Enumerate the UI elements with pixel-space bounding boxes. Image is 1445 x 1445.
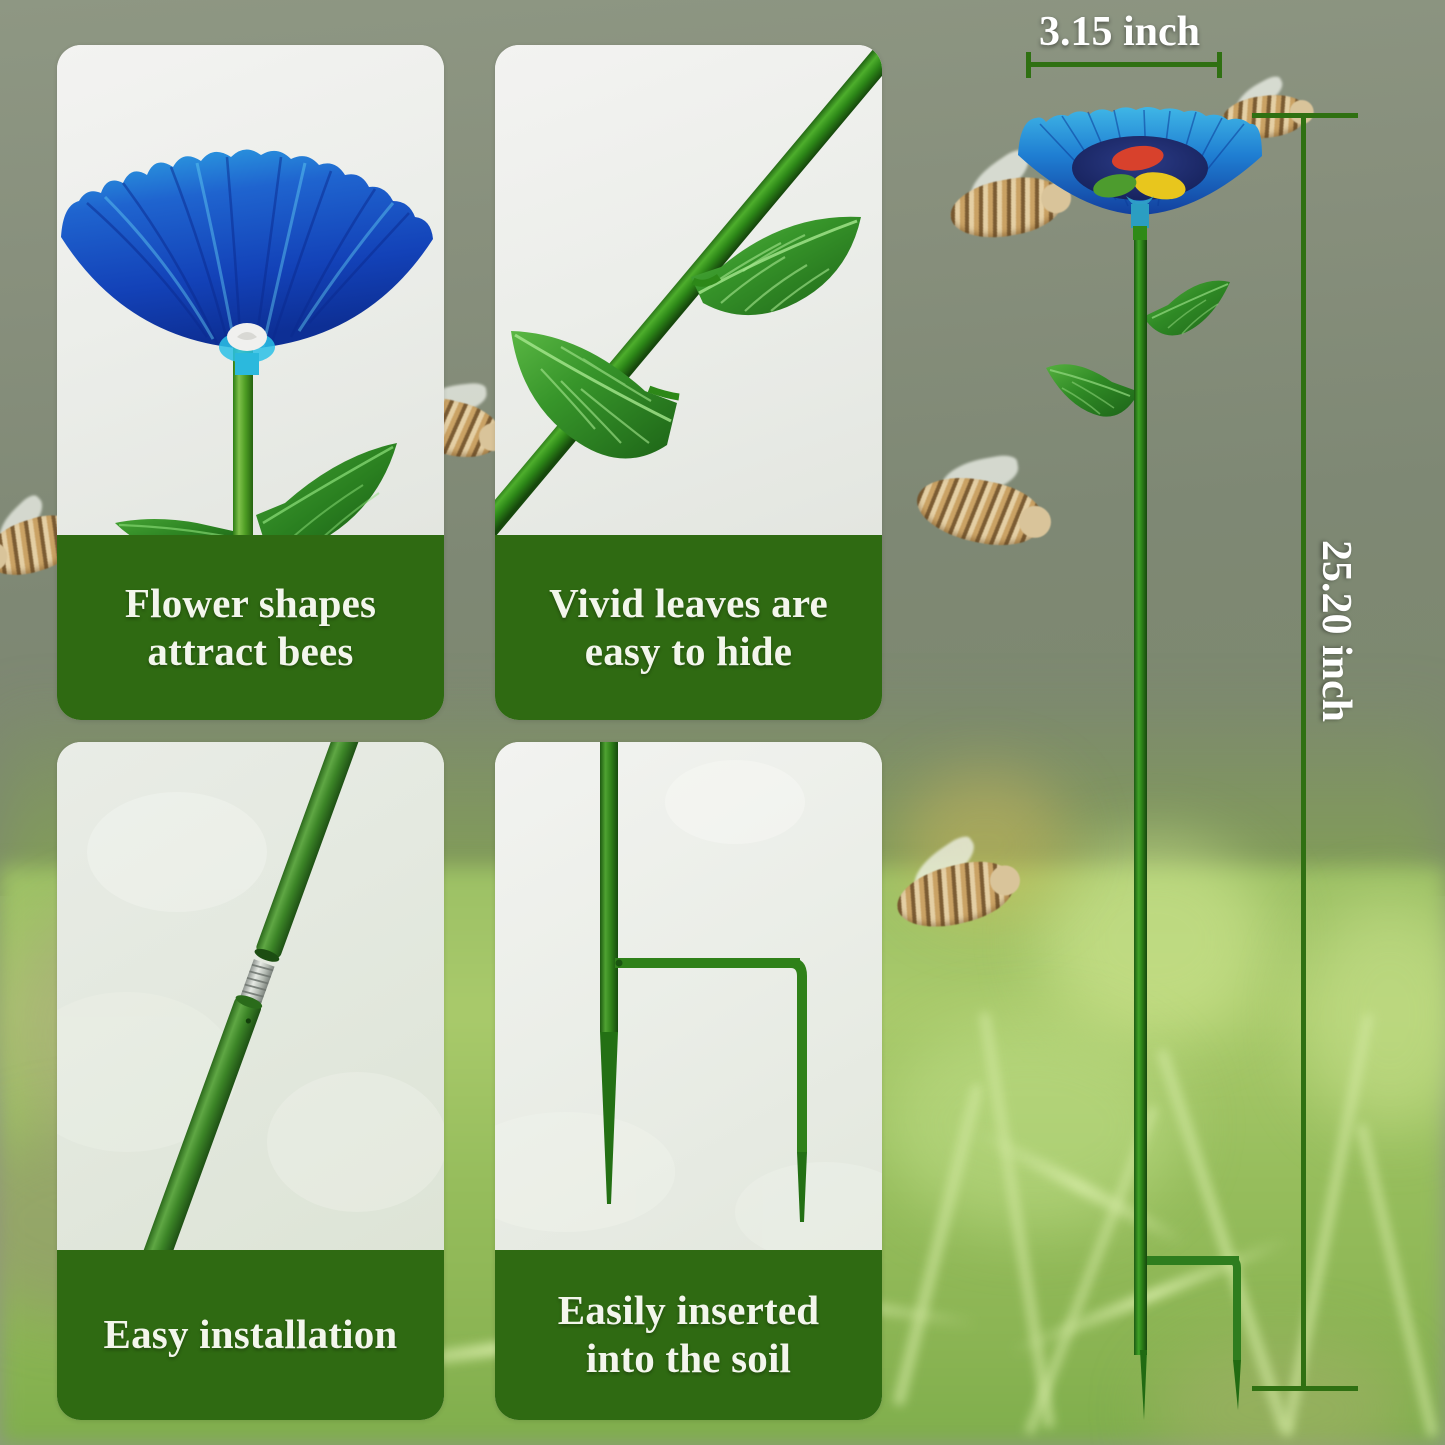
height-dimension-label: 25.20 inch (1312, 540, 1360, 722)
ground-stake-art (495, 742, 882, 1250)
feature-caption-text: Vivid leaves are easy to hide (549, 580, 828, 676)
caption-line: into the soil (586, 1335, 791, 1381)
leaves-closeup-art (495, 45, 882, 535)
hero-flower-head (1018, 107, 1262, 240)
feature-caption-easy-installation: Easy installation (57, 1250, 444, 1420)
caption-line: Flower shapes (125, 580, 376, 626)
leaf-left (115, 519, 233, 535)
feature-image-flower-shapes (57, 45, 444, 535)
height-measure-cap-top (1252, 113, 1358, 118)
caption-line: attract bees (147, 628, 353, 674)
caption-line: Vivid leaves are (549, 580, 828, 626)
product-infographic: 3.15 inch 25.20 inch (0, 0, 1445, 1445)
height-measure-cap-bottom (1252, 1386, 1358, 1391)
hero-product-svg (900, 60, 1320, 1420)
flower-closeup-art (57, 45, 444, 535)
width-dimension-label: 3.15 inch (1039, 8, 1200, 56)
feature-image-easily-inserted (495, 742, 882, 1250)
feature-caption-easily-inserted: Easily inserted into the soil (495, 1250, 882, 1420)
hero-leaf-lower-left (1046, 364, 1134, 416)
width-measure-bar (1026, 62, 1222, 67)
feature-caption-text: Easily inserted into the soil (558, 1287, 820, 1383)
feature-caption-text: Flower shapes attract bees (125, 580, 376, 676)
leaf-lower-left (511, 331, 679, 459)
feature-card-flower-shapes[interactable]: Flower shapes attract bees (57, 45, 444, 720)
feature-card-vivid-leaves[interactable]: Vivid leaves are easy to hide (495, 45, 882, 720)
hero-ground-stake (1140, 1256, 1241, 1420)
feature-caption-text: Easy installation (104, 1311, 398, 1359)
height-measure-bar (1301, 113, 1306, 1391)
leaf-right (256, 443, 397, 535)
width-measure-cap-left (1026, 52, 1031, 78)
caption-line: easy to hide (585, 628, 792, 674)
feature-caption-vivid-leaves: Vivid leaves are easy to hide (495, 535, 882, 720)
feature-card-easily-inserted[interactable]: Easily inserted into the soil (495, 742, 882, 1420)
hero-leaf-upper-right (1147, 281, 1230, 336)
feature-card-easy-installation[interactable]: Easy installation (57, 742, 444, 1420)
feature-image-vivid-leaves (495, 45, 882, 535)
feature-caption-flower-shapes: Flower shapes attract bees (57, 535, 444, 720)
hero-product-stake (900, 60, 1320, 1420)
feature-image-easy-installation (57, 742, 444, 1250)
rod-joint-art (57, 742, 444, 1250)
caption-line: Easy installation (104, 1311, 398, 1357)
width-measure-cap-right (1217, 52, 1222, 78)
caption-line: Easily inserted (558, 1287, 820, 1333)
